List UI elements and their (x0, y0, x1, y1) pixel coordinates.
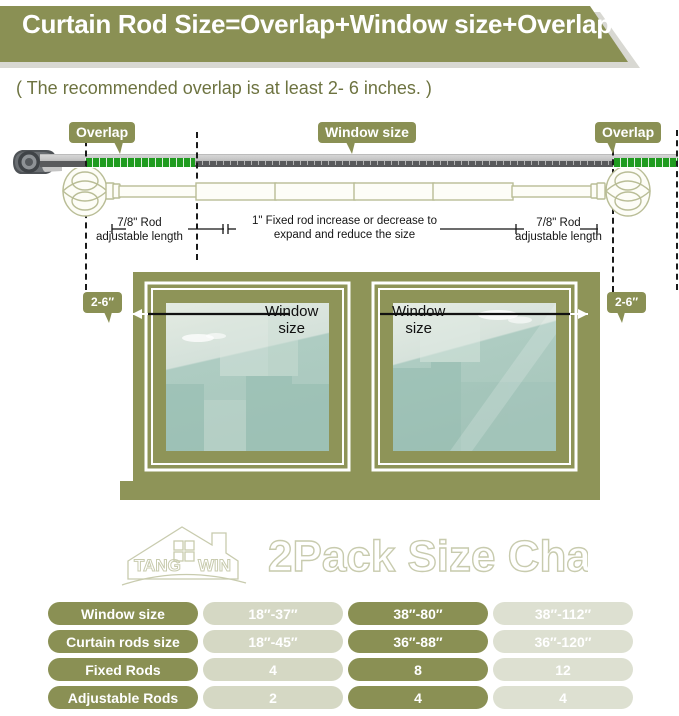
rod-note-left-line2: adjustable length (96, 230, 183, 244)
rod-note-right-line1: 7/8" Rod (515, 216, 602, 230)
window-size-label-right-line1: Window (392, 303, 445, 320)
rod-note-right: 7/8" Rod adjustable length (515, 216, 602, 244)
tangwin-logo: TANG WIN (120, 521, 270, 589)
logo-brand-right: WIN (198, 556, 231, 575)
row-header-curtain-rods-size: Curtain rods size (48, 630, 198, 653)
row-header-fixed-rods: Fixed Rods (48, 658, 198, 681)
callout-gap-right-label: 2-6″ (615, 295, 638, 309)
curtain-rod-illustration (0, 168, 679, 218)
window-size-label-left-line2: size (265, 320, 318, 337)
cell-fixed-rods-large: 12 (493, 658, 633, 681)
cell-window-size-medium: 38″-80″ (348, 602, 488, 625)
cell-fixed-rods-small: 4 (203, 658, 343, 681)
tape-overlap-left-segment (85, 158, 195, 167)
cell-fixed-rods-medium: 8 (348, 658, 488, 681)
logo-brand-left: TANG (134, 556, 181, 575)
cell-window-size-small: 18″-37″ (203, 602, 343, 625)
row-header-window-size: Window size (48, 602, 198, 625)
rod-note-mid-line2: expand and reduce the size (252, 228, 437, 242)
tape-overlap-right-segment (613, 158, 678, 167)
callout-overlap-left: Overlap (69, 122, 135, 143)
callout-gap-left: 2-6″ (83, 292, 122, 313)
cell-curtain-rods-size-small: 18″-45″ (203, 630, 343, 653)
callout-tail (617, 312, 625, 323)
callout-tail (607, 142, 616, 154)
callout-tail (114, 142, 123, 154)
size-chart-title-text: 2Pack Size Chart (268, 532, 588, 581)
window-size-dimension-arrow (130, 306, 590, 322)
tape-ticks-right (613, 158, 678, 167)
window-size-label-left-line1: Window (265, 303, 318, 320)
rod-note-mid-line1: 1" Fixed rod increase or decrease to (252, 214, 437, 228)
callout-overlap-left-label: Overlap (76, 124, 128, 140)
size-chart-title: 2Pack Size Chart (268, 525, 588, 587)
callout-window-size-label: Window size (325, 124, 409, 140)
page-title: Curtain Rod Size=Overlap+Window size+Ove… (22, 9, 612, 40)
window-size-label-right-line2: size (392, 320, 445, 337)
cell-curtain-rods-size-medium: 36″-88″ (348, 630, 488, 653)
rod-note-right-line2: adjustable length (515, 230, 602, 244)
callout-gap-left-label: 2-6″ (91, 295, 114, 309)
table-row: Adjustable Rods 2 4 4 (48, 686, 633, 709)
window-size-label-right: Window size (392, 303, 445, 337)
callout-gap-right: 2-6″ (607, 292, 646, 313)
callout-overlap-right-label: Overlap (602, 124, 654, 140)
cell-adjustable-rods-small: 2 (203, 686, 343, 709)
rod-note-middle: 1" Fixed rod increase or decrease to exp… (252, 214, 437, 242)
table-row: Window size 18″-37″ 38″-80″ 38″-112″ (48, 602, 633, 625)
row-header-adjustable-rods: Adjustable Rods (48, 686, 198, 709)
callout-overlap-right: Overlap (595, 122, 661, 143)
cell-adjustable-rods-medium: 4 (348, 686, 488, 709)
tape-ticks-middle (195, 161, 613, 165)
rod-note-left: 7/8" Rod adjustable length (96, 216, 183, 244)
callout-tail (346, 142, 355, 154)
window-size-label-left: Window size (265, 303, 318, 337)
table-row: Fixed Rods 4 8 12 (48, 658, 633, 681)
table-row: Curtain rods size 18″-45″ 36″-88″ 36″-12… (48, 630, 633, 653)
size-chart-table: Window size 18″-37″ 38″-80″ 38″-112″ Cur… (48, 602, 633, 709)
cell-adjustable-rods-large: 4 (493, 686, 633, 709)
rod-note-left-line1: 7/8" Rod (96, 216, 183, 230)
callout-tail (104, 312, 112, 323)
cell-curtain-rods-size-large: 36″-120″ (493, 630, 633, 653)
callout-window-size: Window size (318, 122, 416, 143)
subtitle-note: ( The recommended overlap is at least 2-… (16, 78, 432, 99)
cell-window-size-large: 38″-112″ (493, 602, 633, 625)
tape-ticks-left (85, 158, 195, 167)
